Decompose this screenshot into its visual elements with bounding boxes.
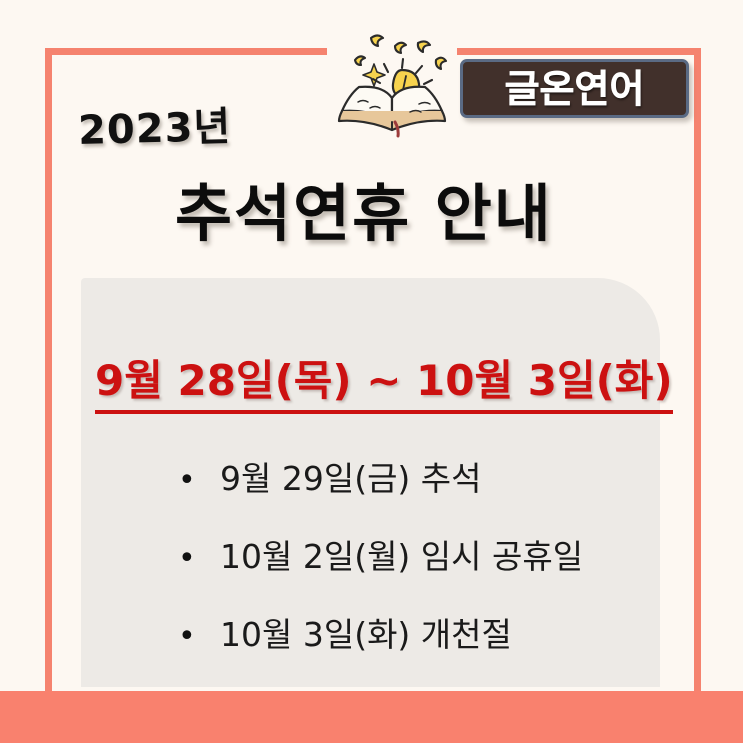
- holiday-label: 9월 29일(금) 추석: [220, 452, 482, 500]
- holiday-list: • 9월 29일(금) 추석 • 10월 2일(월) 임시 공휴일 • 10월 …: [178, 452, 583, 686]
- brand-logo-badge: 글온연어: [460, 59, 689, 118]
- list-item: • 9월 29일(금) 추석: [178, 452, 583, 530]
- open-book-with-lightbulb-icon: [322, 26, 462, 138]
- poster-root: 2023년 추석연휴 안내: [0, 0, 743, 743]
- bottom-accent-band: [0, 691, 743, 743]
- bullet-icon: •: [178, 544, 220, 574]
- holiday-label: 10월 2일(월) 임시 공휴일: [220, 530, 583, 578]
- page-title: 추석연휴 안내: [175, 163, 553, 253]
- frame-left-segment: [45, 48, 52, 696]
- bullet-icon: •: [178, 622, 220, 652]
- year-label: 2023년: [77, 94, 232, 156]
- brand-logo-text: 글온연어: [505, 70, 645, 108]
- holiday-label: 10월 3일(화) 개천절: [220, 608, 512, 656]
- frame-right-segment: [694, 48, 701, 696]
- list-item: • 10월 3일(화) 개천절: [178, 608, 583, 686]
- list-item: • 10월 2일(월) 임시 공휴일: [178, 530, 583, 608]
- bullet-icon: •: [178, 466, 220, 496]
- date-range-heading: 9월 28일(목) ~ 10월 3일(화): [95, 347, 673, 414]
- frame-top-left-segment: [45, 48, 327, 55]
- frame-top-right-segment: [457, 48, 701, 55]
